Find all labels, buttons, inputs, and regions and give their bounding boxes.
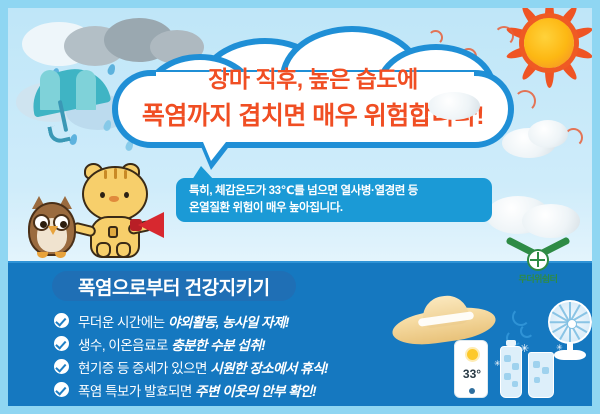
- phone-home-button: [469, 388, 475, 394]
- cloud-icon: [522, 204, 580, 238]
- shelter-logo-label: 무더위쉼터: [500, 272, 576, 285]
- check-circle-icon: [54, 336, 69, 351]
- tip-text: 폭염 특보가 발효되면 주변 이웃의 안부 확인!: [78, 380, 316, 400]
- subnotice-box: 특히, 체감온도가 33℃를 넘으면 열사병·열경련 등 온열질환 위험이 매우…: [176, 178, 492, 222]
- cloud-icon: [528, 120, 568, 148]
- cloud-icon: [428, 92, 480, 120]
- panel-banner: 폭염으로부터 건강지키기: [52, 271, 296, 301]
- tip-text: 현기증 등 증세가 있으면 시원한 장소에서 휴식!: [78, 357, 328, 377]
- electric-fan-icon: [544, 300, 592, 362]
- check-circle-icon: [54, 359, 69, 374]
- subnotice-line-2: 온열질환 위험이 매우 높아집니다.: [189, 200, 479, 217]
- tiger-mascot-icon: [70, 166, 154, 258]
- list-item: 무더운 시간에는 야외활동, 농사일 자제!: [54, 309, 328, 332]
- wind-swirl-icon: [520, 324, 534, 338]
- list-item: 생수, 이온음료로 충분한 수분 섭취!: [54, 332, 328, 355]
- water-bottle-icon: [500, 340, 522, 398]
- check-circle-icon: [54, 382, 69, 397]
- tips-list: 무더운 시간에는 야외활동, 농사일 자제! 생수, 이온음료로 충분한 수분 …: [54, 309, 328, 401]
- sun-hat-icon: [392, 296, 496, 344]
- poster-canvas: 장마 직후, 높은 습도에 폭염까지 겹치면 매우 위험합니다! 특히, 체감온…: [8, 8, 592, 406]
- umbrella-icon: [30, 70, 108, 136]
- owl-mascot-icon: [26, 194, 78, 258]
- list-item: 폭염 특보가 발효되면 주변 이웃의 안부 확인!: [54, 378, 328, 401]
- headline-line-1: 장마 직후, 높은 습도에: [208, 60, 418, 94]
- megaphone-icon: [130, 212, 164, 238]
- panel-title: 폭염으로부터 건강지키기: [78, 273, 270, 300]
- tip-text: 생수, 이온음료로 충분한 수분 섭취!: [78, 334, 265, 354]
- list-item: 현기증 등 증세가 있으면 시원한 장소에서 휴식!: [54, 355, 328, 378]
- subnotice-line-1: 특히, 체감온도가 33℃를 넘으면 열사병·열경련 등: [189, 183, 479, 200]
- poster-frame: 장마 직후, 높은 습도에 폭염까지 겹치면 매우 위험합니다! 특히, 체감온…: [0, 0, 600, 414]
- shelter-emblem-icon: [527, 249, 549, 271]
- tip-text: 무더운 시간에는 야외활동, 농사일 자제!: [78, 311, 289, 331]
- phone-temperature-icon: 33°: [454, 340, 488, 398]
- phone-sun-icon: [467, 349, 478, 360]
- check-circle-icon: [54, 313, 69, 328]
- shelter-logo: 무더위쉼터: [500, 236, 576, 286]
- phone-temperature-value: 33°: [455, 367, 489, 381]
